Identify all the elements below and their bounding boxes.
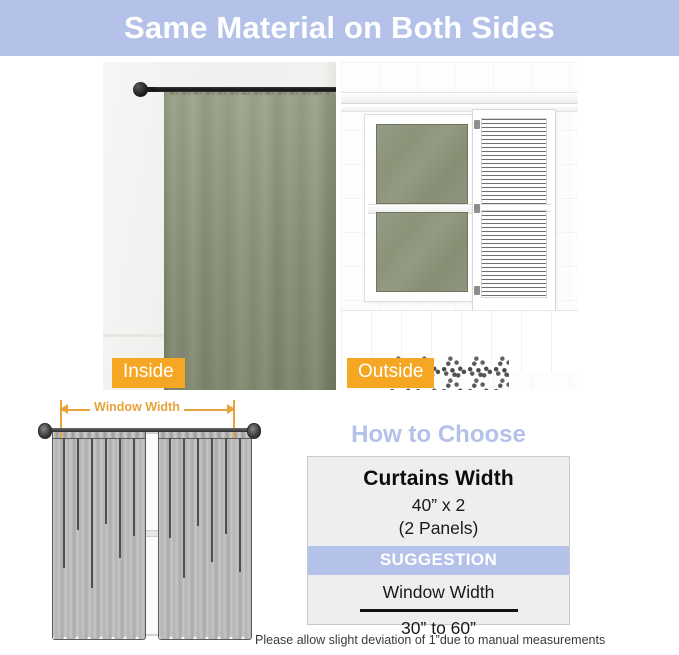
- diagram-curtain-panel-right: [158, 428, 252, 640]
- window-pane-bottom: [376, 212, 468, 292]
- window-width-diagram: Window Width: [18, 398, 280, 650]
- table-value-panels: (2 Panels): [308, 516, 569, 546]
- footnote-disclaimer: Please allow slight deviation of 1”due t…: [255, 633, 679, 647]
- diagram-curtain-panel-left: [52, 428, 146, 640]
- roof-eave-trim: [341, 92, 578, 104]
- curtain-panel-inside: [164, 89, 336, 390]
- shutter-hinge-icon: [474, 120, 480, 129]
- dimension-arrow-right-icon: [227, 404, 235, 414]
- diagram-curtain-rod: [46, 428, 251, 432]
- table-heading-curtains-width: Curtains Width: [308, 457, 569, 491]
- header-banner: Same Material on Both Sides: [0, 0, 679, 56]
- curtain-rod-finial-icon: [133, 82, 148, 97]
- shutter-louvers-bottom: [481, 210, 547, 298]
- photo-label-inside: Inside: [112, 358, 185, 388]
- photo-outside: Outside: [341, 62, 578, 390]
- page-title: Same Material on Both Sides: [124, 10, 555, 46]
- window-shutter: [473, 110, 555, 310]
- curtain-rod-neck: [147, 87, 156, 92]
- table-suggestion-band: SUGGESTION: [308, 546, 569, 575]
- window-pane-top: [376, 124, 468, 204]
- diagram-finial-right-icon: [247, 423, 261, 439]
- how-to-choose-table: Curtains Width 40” x 2 (2 Panels) SUGGES…: [307, 456, 570, 625]
- table-value-size: 40” x 2: [308, 491, 569, 516]
- photo-inside: Inside: [103, 62, 336, 390]
- curtain-rod: [137, 87, 336, 92]
- photo-label-outside: Outside: [347, 358, 434, 388]
- how-to-choose-title: How to Choose: [307, 421, 570, 449]
- shutter-louvers-top: [481, 118, 547, 206]
- exterior-window-frame: [365, 115, 477, 301]
- diagram-finial-left-icon: [38, 423, 52, 439]
- shutter-hinge-icon: [474, 286, 480, 295]
- table-label-window-width: Window Width: [308, 575, 569, 603]
- dimension-arrow-left-icon: [60, 404, 68, 414]
- photo-comparison-strip: Inside Outside: [103, 62, 578, 390]
- shutter-hinge-icon: [474, 204, 480, 213]
- wall-detail-line: [103, 334, 164, 337]
- dimension-label: Window Width: [90, 400, 184, 414]
